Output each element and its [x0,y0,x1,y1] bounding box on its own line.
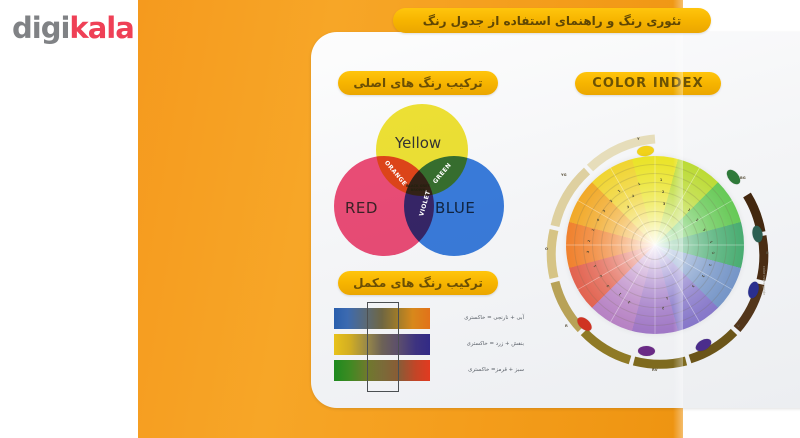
color-wheel-chart: Y YG O R RV V B BG [534,116,786,380]
section-title-complement-mix: ترکیب رنگ های مکمل [338,271,498,295]
color-wheel-disc: 1 2 3 1 2 3 1 2 3 4 1 2 3 1 2 3 1 2 1 2 [566,156,744,334]
watermark-text-digi: digi [12,11,69,45]
equation-green-red: سبز + قرمز= خاکستری [438,367,524,373]
venn-label-center: BLACK GREY BROWN [403,184,433,193]
poster-frame: تئوری رنگ و راهنمای استفاده از جدول رنگ … [138,0,683,438]
equation-violet-yellow: بنفش + زرد = خاکستری [438,341,524,347]
equation-blue-orange: آبی + نارنجی = خاکستری [438,315,524,321]
wheel-side-caption: color index guide [762,266,766,295]
section-title-primary-mix: ترکیب رنگ های اصلی [338,71,498,95]
complementary-color-chart: آبی + نارنجی = خاکستری بنفش + زرد = خاکس… [334,306,524,390]
arc-label-top: Y [637,137,640,141]
arc-label-right: B [766,251,769,255]
gray-zone-highlight-box [367,302,399,392]
primary-color-venn-diagram: Yellow RED BLUE ORANGE GREEN VIOLET BLAC… [334,104,502,264]
wheel-sector-dividers [566,156,744,334]
section-title-color-index: COLOR INDEX [575,72,721,95]
digikala-watermark: digikala [12,14,134,43]
arc-label-left: O [545,247,548,251]
venn-circle-blue [404,156,504,256]
watermark-text-kala: kala [69,11,133,45]
arc-label-bottom: RV [652,368,658,372]
poster-title-banner: تئوری رنگ و راهنمای استفاده از جدول رنگ [393,8,711,33]
